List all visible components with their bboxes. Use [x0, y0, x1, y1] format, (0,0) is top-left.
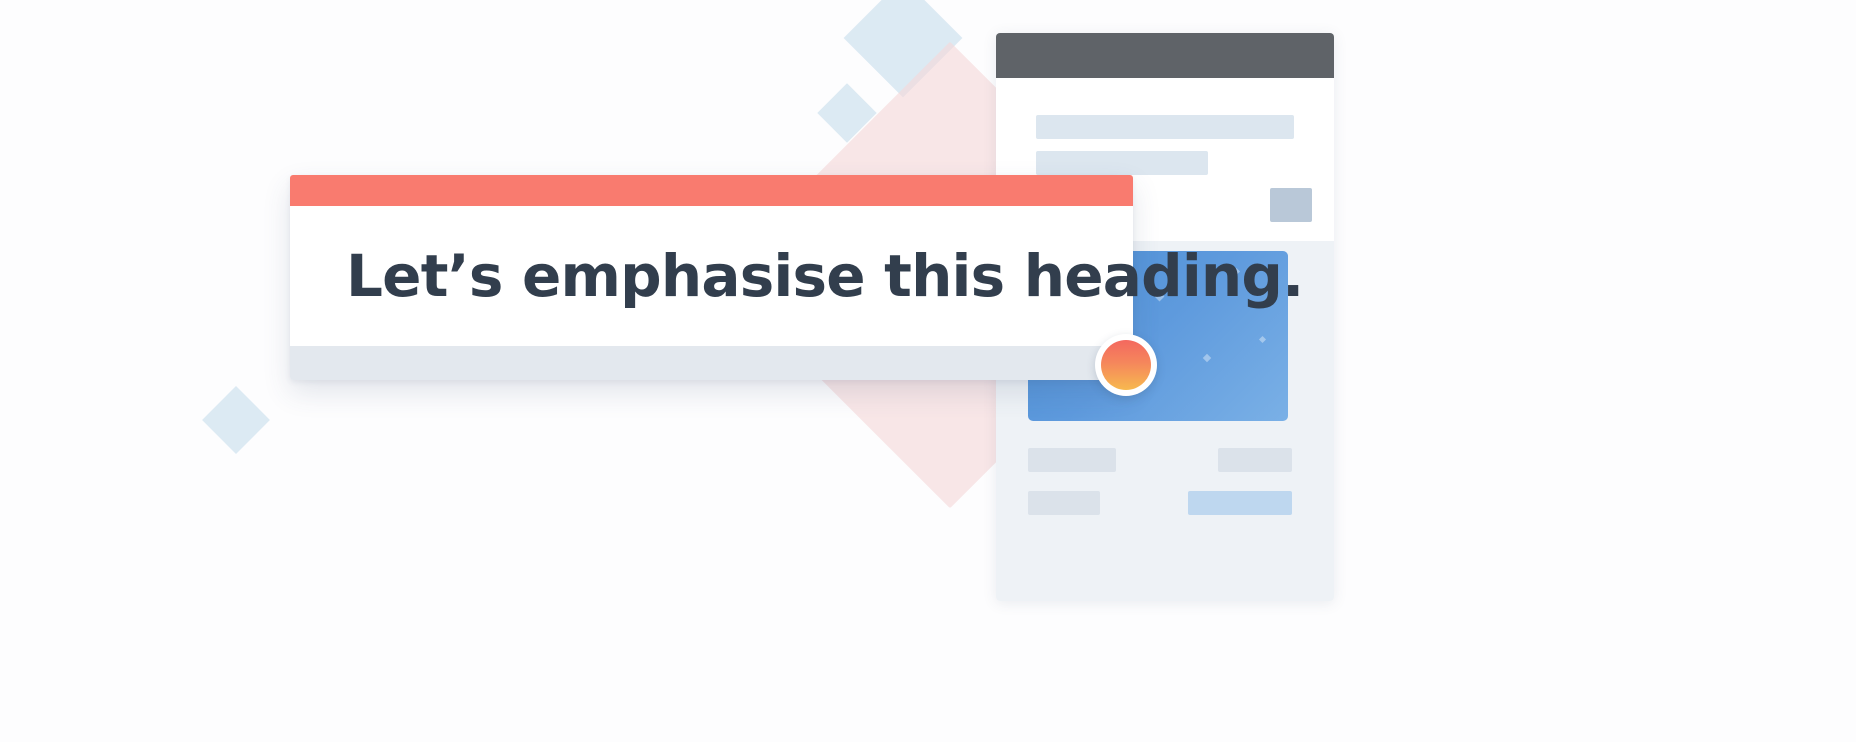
sparkle-icon	[1203, 354, 1211, 362]
heading-card-body: Let’s emphasise this heading.	[290, 206, 1133, 346]
illustration-canvas: Let’s emphasise this heading.	[0, 0, 1856, 742]
mockup-content-block-2	[1028, 491, 1100, 515]
sparkle-icon	[1259, 336, 1266, 343]
page-title: Let’s emphasise this heading.	[346, 246, 1303, 307]
mockup-thumbnail-square	[1270, 188, 1312, 222]
heading-card-accent-bar	[290, 175, 1133, 206]
mockup-header-bar	[996, 33, 1334, 78]
mockup-content-block-3	[1218, 448, 1292, 472]
heading-card: Let’s emphasise this heading.	[290, 175, 1133, 380]
mockup-content-block-4-highlight	[1188, 491, 1292, 515]
diamond-small-bottom-left-icon	[202, 386, 270, 454]
color-swatch-icon	[1101, 340, 1151, 390]
mockup-text-placeholder-line-1	[1036, 115, 1294, 139]
mockup-text-placeholder-line-2	[1036, 151, 1208, 175]
color-picker-handle[interactable]	[1095, 334, 1157, 396]
heading-card-footer-strip	[290, 346, 1133, 380]
mockup-content-block-1	[1028, 448, 1116, 472]
